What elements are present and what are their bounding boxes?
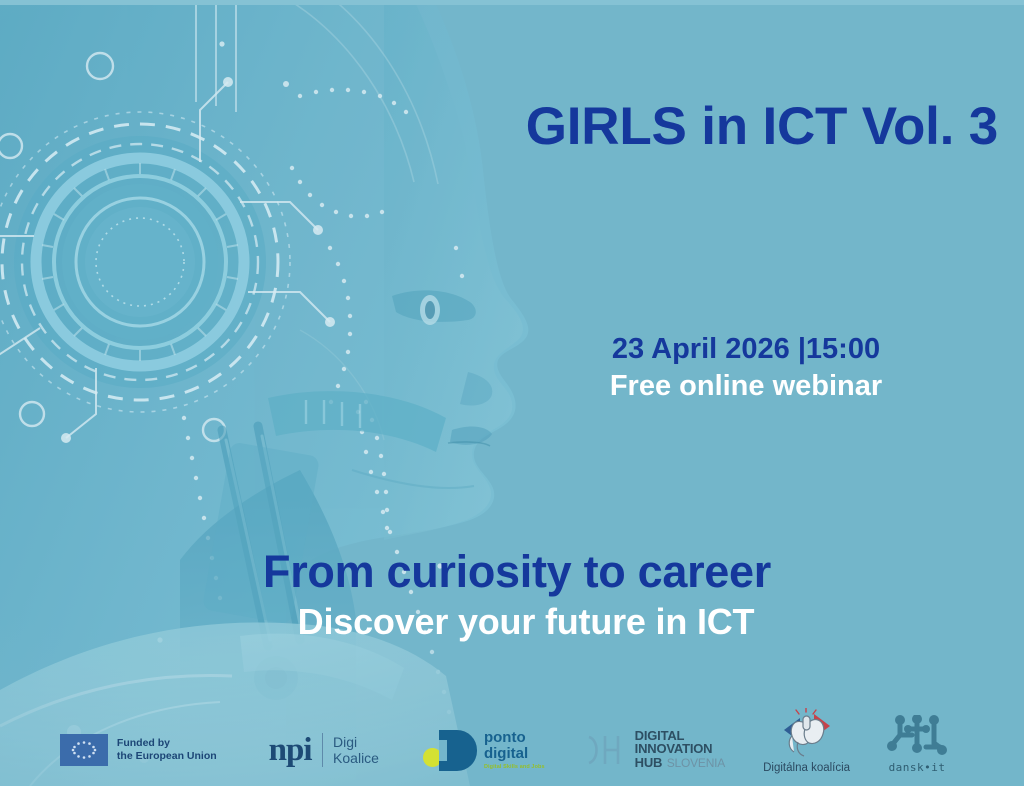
partner-logo-strip: Funded by the European Union npi Digi Ko… [0, 682, 1024, 774]
dih-monogram-icon [585, 732, 627, 768]
npi-divider [322, 733, 324, 767]
event-format: Free online webinar [556, 370, 936, 403]
ponto-digital-text: ponto digital Digital Skills and Jobs [484, 730, 545, 770]
logo-npi-digi-koalice: npi Digi Koalice [269, 726, 379, 774]
npi-line-1: Digi [333, 734, 379, 750]
dih-line-1: DIGITAL [635, 729, 725, 742]
event-datetime: 23 April 2026 |15:00 [556, 333, 936, 366]
ponto-line-1: ponto [484, 730, 545, 746]
npi-line-2: Koalice [333, 750, 379, 766]
eu-flag-icon [60, 734, 108, 766]
dih-line-2: INNOVATION [635, 742, 725, 755]
ponto-digital-icon [423, 728, 479, 772]
dih-slovenia-text: DIGITAL INNOVATION HUB SLOVENIA [635, 729, 725, 772]
tagline-secondary: Discover your future in ICT [0, 601, 1024, 643]
tagline-primary: From curiosity to career [0, 546, 1024, 598]
dih-hub-word: HUB [635, 755, 663, 770]
page-title: GIRLS in ICT Vol. 3 [526, 96, 998, 157]
dih-line-3: HUB SLOVENIA [635, 755, 725, 771]
webinar-poster: GIRLS in ICT Vol. 3 23 April 2026 |15:00… [0, 0, 1024, 786]
logo-digitalna-koalicia: Digitálna koalícia [763, 700, 850, 774]
npi-wordmark: npi [269, 734, 312, 767]
dit-node-network-icon [886, 715, 948, 757]
ponto-line-2: digital [484, 746, 545, 762]
handshake-robot-icon [778, 708, 836, 758]
ponto-notch-shape [439, 740, 447, 761]
eu-line-2: the European Union [117, 750, 217, 763]
ponto-tagline: Digital Skills and Jobs [484, 764, 545, 770]
digi-koalice-text: Digi Koalice [333, 734, 379, 766]
dansk-it-label: dansk•it [889, 761, 946, 774]
eu-funding-text: Funded by the European Union [117, 737, 217, 763]
eu-line-1: Funded by [117, 737, 217, 750]
top-edge-highlight [0, 0, 1024, 5]
digitalna-koalicia-label: Digitálna koalícia [763, 762, 850, 774]
logo-dansk-it: dansk•it [886, 704, 948, 774]
logo-eu-funding: Funded by the European Union [60, 726, 217, 774]
logo-dih-slovenia: DIGITAL INNOVATION HUB SLOVENIA [585, 726, 725, 774]
event-details: 23 April 2026 |15:00 Free online webinar [556, 333, 936, 403]
tagline: From curiosity to career Discover your f… [0, 546, 1024, 643]
dih-slovenia-word: SLOVENIA [667, 756, 725, 770]
logo-ponto-digital: ponto digital Digital Skills and Jobs [423, 726, 545, 774]
